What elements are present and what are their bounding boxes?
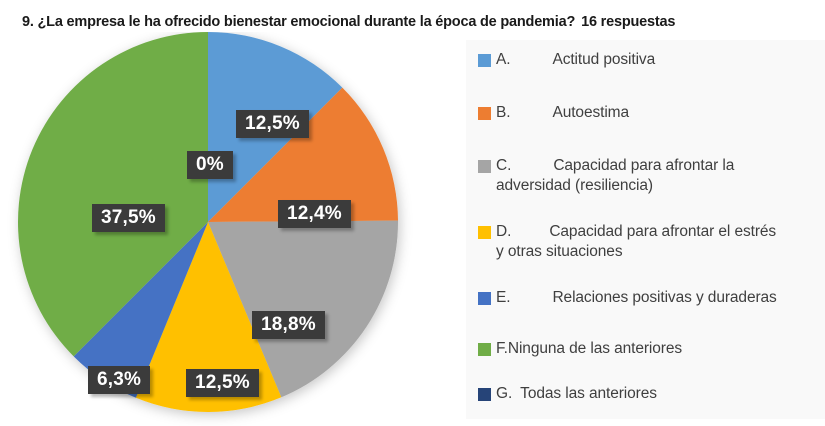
legend-item-e[interactable]: E.Relaciones positivas y duraderas [478, 288, 819, 308]
legend-item-label: A.Actitud positiva [496, 50, 655, 70]
legend-item-label: F.Ninguna de las anteriores [496, 339, 682, 359]
legend-item-label: D.Capacidad para afrontar el estrésy otr… [496, 222, 776, 262]
legend-swatch-icon [478, 54, 491, 67]
data-label-g[interactable]: 0% [187, 151, 233, 179]
pie-chart: 12,5%12,4%18,8%12,5%6,3%37,5%0% [0, 32, 466, 426]
data-label-c[interactable]: 18,8% [252, 311, 325, 339]
chart-legend: A.Actitud positivaB.AutoestimaC.Capacida… [466, 40, 825, 419]
legend-swatch-icon [478, 107, 491, 120]
legend-item-label: B.Autoestima [496, 103, 629, 123]
legend-item-label: C.Capacidad para afrontar laadversidad (… [496, 156, 734, 196]
legend-swatch-icon [478, 292, 491, 305]
legend-item-label: G.Todas las anteriores [496, 384, 657, 404]
page-title: 9. ¿La empresa le ha ofrecido bienestar … [22, 14, 675, 30]
legend-swatch-icon [478, 343, 491, 356]
legend-item-c[interactable]: C.Capacidad para afrontar laadversidad (… [478, 156, 819, 196]
legend-swatch-icon [478, 160, 491, 173]
legend-item-f[interactable]: F.Ninguna de las anteriores [478, 339, 819, 359]
legend-item-d[interactable]: D.Capacidad para afrontar el estrésy otr… [478, 222, 819, 262]
data-label-b[interactable]: 12,4% [278, 200, 351, 228]
title-response-count: 16 respuestas [581, 14, 675, 30]
data-label-a[interactable]: 12,5% [236, 110, 309, 138]
legend-item-b[interactable]: B.Autoestima [478, 103, 819, 123]
data-label-e[interactable]: 6,3% [88, 366, 150, 394]
legend-swatch-icon [478, 388, 491, 401]
title-question: 9. ¿La empresa le ha ofrecido bienestar … [22, 14, 575, 30]
data-label-f[interactable]: 37,5% [92, 204, 165, 232]
data-label-d[interactable]: 12,5% [186, 369, 259, 397]
legend-item-a[interactable]: A.Actitud positiva [478, 50, 819, 70]
legend-item-label: E.Relaciones positivas y duraderas [496, 288, 777, 308]
pie-chart-svg [0, 32, 466, 426]
legend-item-g[interactable]: G.Todas las anteriores [478, 384, 819, 404]
legend-swatch-icon [478, 226, 491, 239]
